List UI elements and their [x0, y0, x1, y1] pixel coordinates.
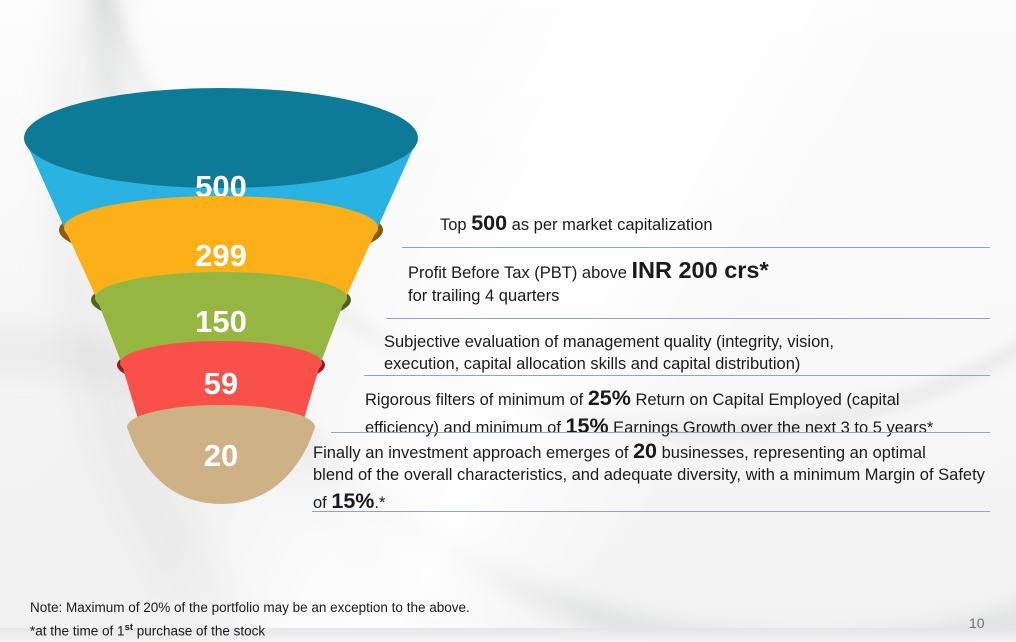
caption-text: businesses, representing an optimal — [657, 444, 926, 462]
caption-line: for trailing 4 quarters — [408, 286, 769, 308]
caption-text: blend of the overall characteristics, an… — [313, 466, 985, 484]
footnote-ordinal-suffix: st — [125, 622, 133, 633]
caption-text: .* — [374, 494, 385, 512]
funnel-caption-3: Subjective evaluation of management qual… — [384, 332, 834, 376]
caption-text: Top — [440, 216, 471, 234]
funnel-caption-5: Finally an investment approach emerges o… — [313, 437, 985, 516]
funnel-segment-5-value: 20 — [204, 438, 238, 473]
funnel-segment-5[interactable]: 20 — [127, 405, 315, 504]
caption-emphasis: 20 — [633, 439, 657, 463]
footnote-purchase-time: *at the time of 1st purchase of the stoc… — [30, 622, 265, 639]
funnel-caption-2: Profit Before Tax (PBT) above INR 200 cr… — [408, 255, 769, 308]
caption-divider-3 — [364, 375, 990, 376]
caption-text: as per market capitalization — [507, 216, 712, 234]
caption-emphasis: 500 — [471, 211, 507, 235]
caption-line: Rigorous filters of minimum of 25% Retur… — [365, 384, 933, 412]
funnel-segment-3-value: 150 — [195, 304, 247, 339]
caption-line: Profit Before Tax (PBT) above INR 200 cr… — [408, 255, 769, 286]
caption-divider-1 — [402, 247, 990, 248]
footnote-suffix: purchase of the stock — [133, 624, 265, 639]
caption-text: efficiency) and minimum of — [365, 419, 566, 437]
slide-canvas: 500 299 150 — [0, 0, 1016, 642]
caption-emphasis: INR 200 crs* — [631, 257, 768, 283]
caption-emphasis: 15% — [566, 414, 609, 438]
caption-text: Rigorous filters of minimum of — [365, 391, 588, 409]
caption-line: execution, capital allocation skills and… — [384, 354, 834, 376]
caption-line: blend of the overall characteristics, an… — [313, 465, 985, 487]
caption-text: for trailing 4 quarters — [408, 287, 559, 305]
caption-divider-4 — [331, 432, 990, 433]
caption-line: Subjective evaluation of management qual… — [384, 332, 834, 354]
caption-divider-5 — [312, 511, 990, 512]
funnel-segment-4-value: 59 — [204, 366, 238, 401]
footnote-prefix: *at the time of 1 — [30, 624, 125, 639]
caption-text: execution, capital allocation skills and… — [384, 355, 800, 373]
caption-line: Top 500 as per market capitalization — [440, 209, 713, 237]
funnel-caption-1: Top 500 as per market capitalization — [440, 209, 713, 237]
caption-text: Subjective evaluation of management qual… — [384, 333, 834, 351]
caption-text: Finally an investment approach emerges o… — [313, 444, 633, 462]
caption-text: Return on Capital Employed (capital — [631, 391, 900, 409]
caption-text: of — [313, 494, 331, 512]
caption-emphasis: 15% — [331, 489, 374, 513]
caption-emphasis: 25% — [588, 386, 631, 410]
caption-divider-2 — [386, 318, 990, 319]
footnote-portfolio-exception: Note: Maximum of 20% of the portfolio ma… — [30, 600, 470, 615]
page-number: 10 — [969, 615, 985, 631]
caption-text: Earnings Growth over the next 3 to 5 yea… — [609, 419, 934, 437]
caption-text: Profit Before Tax (PBT) above — [408, 264, 631, 282]
caption-line: Finally an investment approach emerges o… — [313, 437, 985, 465]
funnel-segment-2-value: 299 — [195, 238, 247, 273]
